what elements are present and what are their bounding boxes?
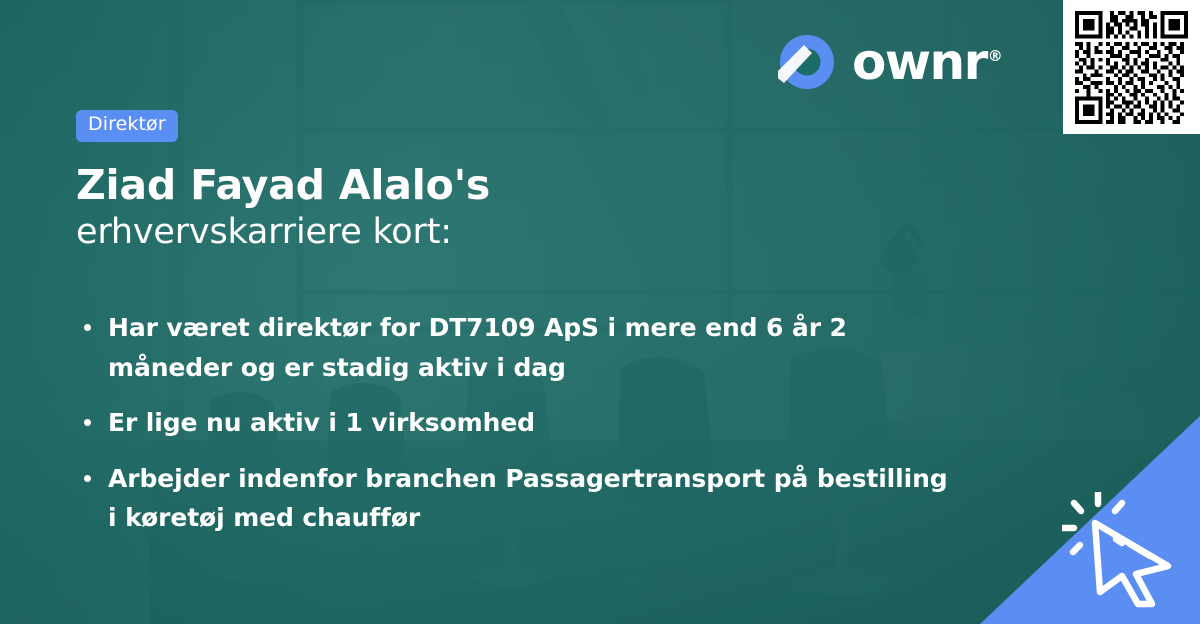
click-cursor-icon <box>1062 492 1182 610</box>
list-item-text: Har været direktør for DT7109 ApS i mere… <box>108 313 847 382</box>
list-item: Arbejder indenfor branchen Passagertrans… <box>80 459 960 538</box>
qr-code-panel[interactable] <box>1063 0 1200 134</box>
bullet-dot-icon <box>84 475 91 482</box>
bullet-dot-icon <box>84 324 91 331</box>
registered-trademark-icon: ® <box>988 47 1003 65</box>
qr-code-icon <box>1075 11 1188 124</box>
list-item-text: Arbejder indenfor branchen Passagertrans… <box>108 464 948 533</box>
ownr-logo[interactable]: ownr® <box>778 34 1003 90</box>
career-facts-list: Har været direktør for DT7109 ApS i mere… <box>80 308 960 554</box>
page-subtitle: erhvervskarriere kort: <box>76 211 936 254</box>
list-item: Har været direktør for DT7109 ApS i mere… <box>80 308 960 387</box>
ownr-wordmark-text: ownr <box>852 33 987 91</box>
career-card: ownr® <box>0 0 1200 624</box>
headline-block: Direktør Ziad Fayad Alalo's erhvervskarr… <box>76 110 936 254</box>
ownr-circle-swoosh-icon <box>778 33 836 91</box>
page-title: Ziad Fayad Alalo's <box>76 162 936 209</box>
bullet-dot-icon <box>84 419 91 426</box>
list-item-text: Er lige nu aktiv i 1 virksomhed <box>108 408 535 437</box>
ownr-wordmark: ownr® <box>852 37 1003 87</box>
list-item: Er lige nu aktiv i 1 virksomhed <box>80 403 960 443</box>
role-badge: Direktør <box>76 110 178 142</box>
